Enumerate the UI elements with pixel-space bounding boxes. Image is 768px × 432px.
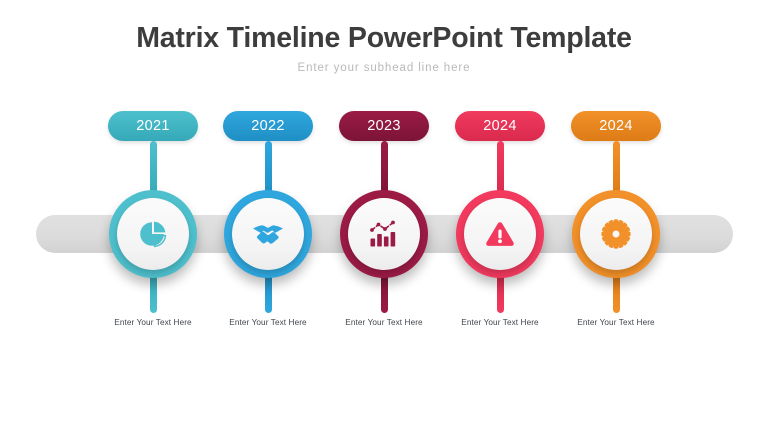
handshake-icon (252, 221, 284, 247)
icon-circle-2[interactable] (340, 190, 428, 278)
icon-disc (117, 198, 189, 270)
timeline-step: 2024Enter Your Text Here (558, 0, 674, 432)
warning-triangle-icon (485, 220, 515, 248)
icon-disc (348, 198, 420, 270)
bar-chart-trend-icon (369, 220, 399, 248)
step-caption-4: Enter Your Text Here (546, 318, 686, 327)
icon-disc (464, 198, 536, 270)
year-badge-0[interactable]: 2021 (108, 111, 198, 141)
timeline-step: 2021Enter Your Text Here (95, 0, 211, 432)
icon-circle-0[interactable] (109, 190, 197, 278)
year-badge-4[interactable]: 2024 (571, 111, 661, 141)
year-badge-2[interactable]: 2023 (339, 111, 429, 141)
icon-disc (580, 198, 652, 270)
icon-circle-4[interactable] (572, 190, 660, 278)
icon-circle-1[interactable] (224, 190, 312, 278)
year-badge-1[interactable]: 2022 (223, 111, 313, 141)
icon-disc (232, 198, 304, 270)
timeline-step: 2022Enter Your Text Here (210, 0, 326, 432)
timeline-step: 2024Enter Your Text Here (442, 0, 558, 432)
icon-circle-3[interactable] (456, 190, 544, 278)
year-badge-3[interactable]: 2024 (455, 111, 545, 141)
timeline-steps: 2021Enter Your Text Here2022Enter Your T… (0, 0, 768, 432)
timeline-step: 2023Enter Your Text Here (326, 0, 442, 432)
gear-icon (601, 219, 631, 249)
pie-chart-icon (138, 219, 168, 249)
